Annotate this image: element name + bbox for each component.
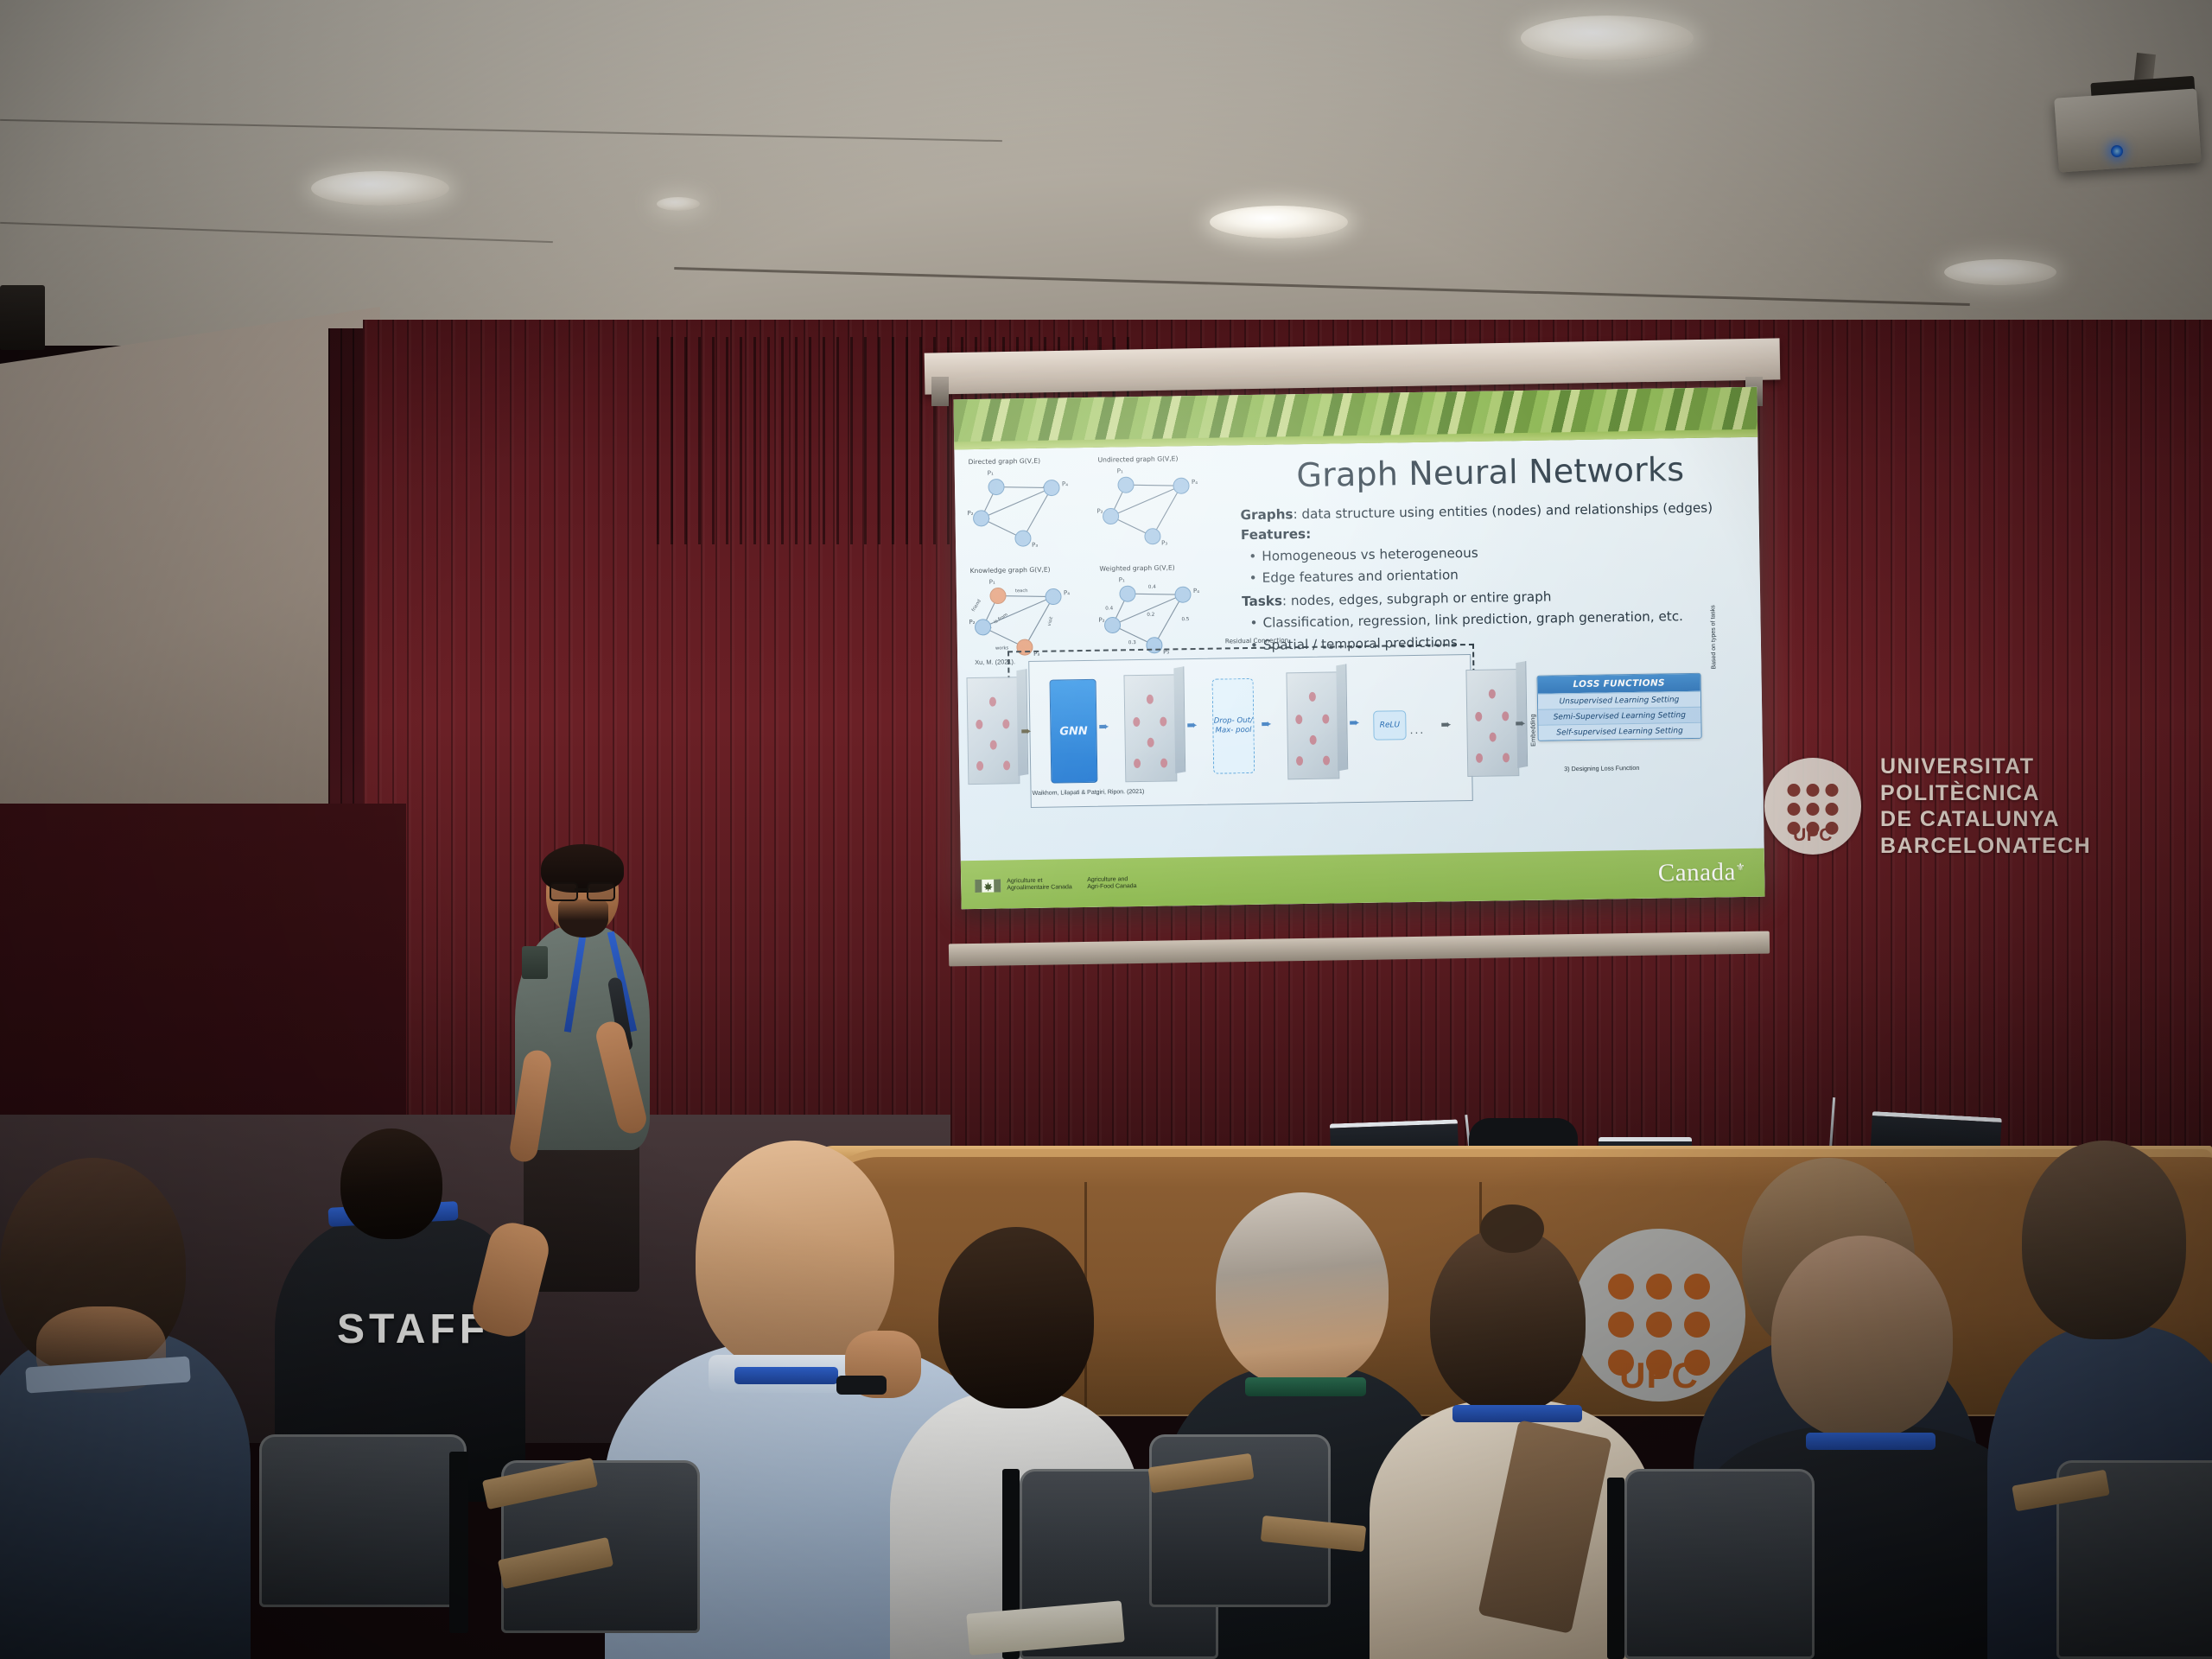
- staff-head: [340, 1128, 442, 1239]
- lanyard-strap: [1806, 1433, 1935, 1450]
- gnn-pipeline-figure: Residual Connection ➨ GNN ➨: [966, 631, 1755, 816]
- upc-wall-sign: UPC UNIVERSITAT POLITÈCNICA DE CATALUNYA…: [1764, 750, 2196, 862]
- arrow-icon: ➨: [1098, 721, 1109, 734]
- government-of-canada-logo: Agriculture et Agroalimentaire Canada Ag…: [975, 876, 1161, 893]
- projector-power-led-icon: [2111, 145, 2123, 157]
- slide-graphs-label: Graphs: [1240, 506, 1293, 523]
- presenter-badge: [522, 946, 548, 979]
- lanyard-strap: [734, 1367, 838, 1384]
- svg-text:P₁: P₁: [1117, 467, 1123, 474]
- arrow-icon: ➨: [1349, 716, 1360, 729]
- svg-text:0.2: 0.2: [1147, 613, 1154, 618]
- slide-tasks-text: : nodes, edges, subgraph or entire graph: [1282, 589, 1552, 609]
- upc-wall-text: UNIVERSITAT POLITÈCNICA DE CATALUNYA BAR…: [1880, 753, 2196, 859]
- based-on-tasks-label: Based on types of tasks: [1710, 605, 1717, 669]
- svg-text:P₄: P₄: [1062, 480, 1068, 487]
- svg-text:is from: is from: [993, 613, 1008, 626]
- audience-head: [1430, 1227, 1586, 1413]
- arrow-icon: ➨: [1020, 725, 1032, 738]
- left-wall-panel: [0, 307, 380, 877]
- slide-title: Graph Neural Networks: [1240, 449, 1742, 495]
- ceiling-downlight-icon: [311, 171, 449, 206]
- ceiling-downlight-icon: [1944, 259, 2056, 285]
- svg-text:P₄: P₄: [1064, 589, 1070, 596]
- relu-block: ReLU: [1373, 710, 1407, 741]
- graph-example-directed: Directed graph G(V,E): [966, 456, 1096, 560]
- embedding-graph-prism: [1465, 669, 1519, 777]
- wall-speaker: [0, 285, 45, 350]
- presenter-beard: [558, 899, 608, 938]
- graph-example-label: Undirected graph G(V,E): [1097, 454, 1178, 463]
- graph-example-label: Knowledge graph G(V,E): [969, 566, 1050, 575]
- svg-text:0.4: 0.4: [1148, 585, 1156, 590]
- arrow-icon: ➨: [1261, 718, 1272, 731]
- svg-text:P₂: P₂: [967, 510, 973, 517]
- svg-text:P₂: P₂: [1098, 617, 1104, 624]
- svg-text:teach: teach: [1015, 588, 1028, 594]
- residual-connection-label: Residual Connection: [1225, 636, 1288, 645]
- graph-example-label: Directed graph G(V,E): [968, 457, 1040, 466]
- ceiling-downlight-icon: [1521, 16, 1694, 60]
- loss-functions-box: LOSS FUNCTIONS Unsupervised Learning Set…: [1537, 673, 1702, 741]
- slide-graphs-text: : data structure using entities (nodes) …: [1293, 500, 1713, 523]
- gnn-block: GNN: [1050, 679, 1098, 784]
- screen-bracket: [931, 377, 949, 406]
- dropout-maxpool-block: Drop- Out/ Max- pool: [1212, 678, 1255, 774]
- svg-text:0.5: 0.5: [1181, 617, 1189, 622]
- svg-text:P₃: P₃: [1161, 539, 1167, 546]
- canada-wordmark: Canada⚜: [1658, 858, 1746, 888]
- ceiling-downlight-icon: [1210, 206, 1348, 238]
- arrow-icon: ➨: [1186, 719, 1198, 732]
- auditorium-photo: Directed graph G(V,E): [0, 0, 2212, 1659]
- hidden-graph-prism: [1123, 674, 1177, 782]
- svg-text:P₁: P₁: [988, 470, 994, 477]
- auditorium-seat[interactable]: [1624, 1469, 1815, 1659]
- seat-frame: [449, 1452, 468, 1633]
- ceiling: [0, 0, 2212, 346]
- upc-logo-icon: UPC: [1764, 758, 1861, 855]
- ceiling-projector: [2054, 88, 2202, 172]
- undirected-graph-svg: P₁P₄ P₂P₃: [1096, 454, 1225, 550]
- gov-logo-text-fr: Agriculture et Agroalimentaire Canada: [1007, 877, 1081, 893]
- residual-connection-line: [1007, 644, 1474, 652]
- audience-head: [1771, 1236, 1953, 1439]
- svg-text:P₄: P₄: [1193, 588, 1199, 594]
- svg-text:P₃: P₃: [1032, 542, 1038, 549]
- presentation-slide: Directed graph G(V,E): [953, 387, 1764, 910]
- audience-head: [2022, 1141, 2186, 1339]
- lanyard-strap: [1452, 1405, 1582, 1422]
- graph-example-label: Weighted graph G(V,E): [1099, 563, 1174, 572]
- graph-example-undirected: Undirected graph G(V,E): [1096, 454, 1225, 557]
- slide-tasks-label: Tasks: [1242, 594, 1282, 610]
- svg-text:friend: friend: [971, 599, 982, 613]
- svg-text:P₂: P₂: [1096, 508, 1103, 515]
- output-graph-prism: [1286, 671, 1339, 779]
- directed-graph-svg: P₁P₄ P₂P₃: [966, 456, 1096, 553]
- audience-head: [1216, 1192, 1389, 1387]
- svg-text:P₂: P₂: [969, 619, 975, 626]
- audience-head: [938, 1227, 1094, 1408]
- ceiling-downlight-icon: [657, 197, 700, 211]
- canada-flag-icon: [975, 880, 1001, 893]
- projection-screen: Directed graph G(V,E): [953, 387, 1764, 910]
- gov-logo-text-en: Agriculture and Agri-Food Canada: [1087, 876, 1161, 892]
- arrow-icon: ➨: [1515, 717, 1526, 730]
- lanyard-strap: [1245, 1377, 1366, 1396]
- svg-text:P₄: P₄: [1192, 479, 1198, 486]
- ceiling-seam: [0, 119, 1002, 142]
- ellipsis-label: ...: [1409, 722, 1425, 736]
- upc-logo-word: UPC: [1764, 825, 1861, 846]
- ceiling-seam: [674, 267, 1969, 306]
- slide-features-list: Homogeneous vs heterogeneous Edge featur…: [1241, 539, 1757, 589]
- embedding-label: Embedding: [1529, 714, 1537, 747]
- loss-row: Self-supervised Learning Setting: [1538, 722, 1700, 741]
- glasses-icon: [550, 882, 615, 898]
- audience-member-front-left: [0, 1158, 251, 1659]
- wristwatch: [836, 1376, 887, 1395]
- input-graph-prism: [966, 677, 1020, 785]
- hair-bun: [1480, 1205, 1544, 1253]
- svg-text:visit: visit: [1047, 616, 1055, 626]
- designing-loss-label: 3) Designing Loss Function: [1564, 764, 1639, 772]
- svg-text:P₁: P₁: [989, 579, 995, 586]
- svg-text:0.4: 0.4: [1105, 606, 1113, 611]
- ceiling-seam: [0, 222, 553, 243]
- svg-text:P₁: P₁: [1119, 576, 1125, 583]
- auditorium-seat[interactable]: [259, 1434, 467, 1607]
- seat-frame: [1607, 1478, 1624, 1659]
- arrow-icon: ➨: [1440, 718, 1452, 731]
